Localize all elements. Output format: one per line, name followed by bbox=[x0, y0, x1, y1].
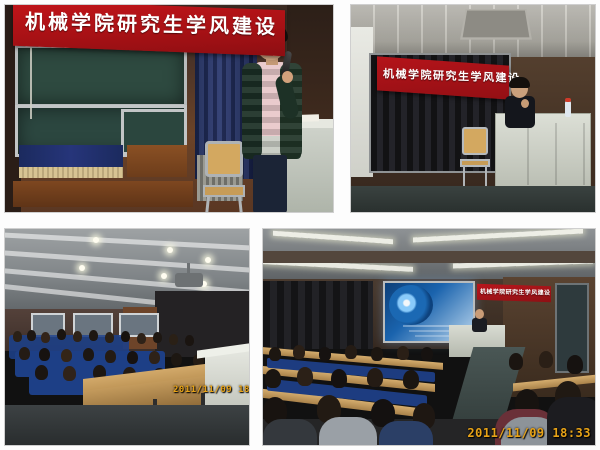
audience-head bbox=[35, 365, 48, 380]
audience-head bbox=[265, 369, 281, 388]
projector bbox=[175, 273, 203, 287]
wood-panel bbox=[127, 145, 187, 177]
blackboard-upper bbox=[15, 45, 187, 107]
speaker-hand bbox=[521, 99, 529, 108]
audience-head bbox=[19, 347, 30, 360]
audience-head bbox=[105, 350, 116, 363]
audience-head bbox=[319, 347, 331, 361]
chair-leg bbox=[485, 166, 487, 186]
audience-head bbox=[127, 351, 138, 364]
floor bbox=[5, 405, 249, 445]
audience-head bbox=[421, 347, 433, 361]
water-bottle bbox=[565, 101, 571, 117]
wood-wainscot bbox=[13, 181, 193, 207]
ceiling-downlight bbox=[161, 273, 167, 279]
ceiling-downlight bbox=[167, 247, 173, 253]
ceiling-downlight bbox=[79, 265, 85, 271]
chair-leg bbox=[205, 195, 210, 212]
audience-head bbox=[149, 351, 160, 364]
audience-shoulders bbox=[319, 417, 377, 445]
banner-text: 机械学院研究生学风建设 bbox=[480, 286, 550, 296]
photo-bottom-left[interactable]: 2011/11/09 18: bbox=[4, 228, 250, 446]
audience-head bbox=[331, 369, 347, 388]
chair-leg bbox=[463, 166, 465, 186]
photo-top-right[interactable]: 机械学院研究生学风建设 bbox=[350, 4, 596, 213]
chair-back bbox=[205, 141, 243, 177]
photo-collage: 机械学院研究生学风建设 机械学院研究生学风建设 bbox=[0, 0, 600, 450]
bottle-cap bbox=[565, 98, 571, 102]
audience-head bbox=[297, 367, 313, 386]
audience-head bbox=[105, 332, 114, 343]
slide-swirl-graphic bbox=[389, 285, 433, 325]
ceiling-downlight bbox=[205, 257, 211, 263]
audience-head bbox=[403, 370, 419, 389]
scene-room-wide: 机械学院研究生学风建设 bbox=[351, 5, 595, 212]
banner-text: 机械学院研究生学风建设 bbox=[25, 5, 278, 39]
audience-head bbox=[39, 348, 50, 361]
ceiling-downlight bbox=[93, 237, 99, 243]
audience-head bbox=[567, 355, 583, 374]
speaker-hand bbox=[282, 71, 293, 83]
wooden-chair bbox=[459, 127, 491, 187]
audience-head bbox=[171, 353, 182, 366]
camera-timestamp: 2011/11/09 18: bbox=[173, 385, 249, 395]
camera-timestamp: 2011/11/09 18:33 bbox=[467, 426, 591, 440]
speaker-head bbox=[475, 309, 484, 319]
audience-head bbox=[137, 333, 146, 344]
audience-shoulders bbox=[379, 421, 433, 445]
banner-text: 机械学院研究生学风建设 bbox=[383, 65, 521, 86]
red-banner: 机械学院研究生学风建设 bbox=[477, 284, 551, 303]
audience-head bbox=[83, 348, 94, 361]
audience-head bbox=[121, 331, 130, 342]
speaker-body bbox=[472, 318, 487, 332]
floor bbox=[351, 186, 595, 212]
audience-head bbox=[153, 332, 162, 343]
podium-panels bbox=[501, 123, 585, 185]
audience-head bbox=[169, 334, 178, 345]
audience-shoulders bbox=[263, 419, 317, 445]
audience-head bbox=[13, 331, 22, 342]
chair-back bbox=[462, 127, 488, 155]
dark-curtain bbox=[263, 281, 373, 349]
scene-audience-rear: 机械学院研究生学风建设 bbox=[263, 229, 595, 445]
audience-head bbox=[27, 330, 36, 341]
ceiling-beam bbox=[263, 251, 595, 263]
audience-head bbox=[345, 345, 357, 359]
speaker-body bbox=[505, 96, 535, 128]
slide-text-line bbox=[415, 335, 453, 337]
photo-top-left[interactable]: 机械学院研究生学风建设 bbox=[4, 4, 334, 213]
ceiling-vent bbox=[460, 9, 532, 40]
scene-audience-side: 2011/11/09 18: bbox=[5, 229, 249, 445]
side-podium bbox=[205, 351, 249, 411]
audience-head bbox=[63, 366, 76, 381]
audience-head bbox=[57, 329, 66, 340]
slide-text-line bbox=[409, 330, 453, 332]
photo-bottom-right[interactable]: 机械学院研究生学风建设 bbox=[262, 228, 596, 446]
curtain-fringe bbox=[19, 167, 123, 178]
speaker bbox=[471, 309, 487, 331]
audience-head bbox=[371, 347, 383, 361]
audience-head bbox=[41, 332, 50, 343]
audience-head bbox=[89, 330, 98, 341]
pointer-stick bbox=[30, 47, 32, 119]
audience-head bbox=[73, 331, 82, 342]
speaker bbox=[503, 79, 537, 125]
slide-text-line bbox=[403, 325, 453, 327]
audience-head bbox=[61, 349, 72, 362]
audience-head bbox=[293, 345, 305, 359]
speaker-hair bbox=[509, 77, 530, 88]
speaker-trousers bbox=[253, 155, 287, 212]
scene-lecture-front: 机械学院研究生学风建设 bbox=[5, 5, 333, 212]
audience-head bbox=[509, 353, 523, 370]
audience-head bbox=[185, 335, 194, 346]
audience-head bbox=[539, 351, 553, 368]
audience-head bbox=[269, 347, 281, 361]
audience-head bbox=[367, 368, 383, 387]
audience-head bbox=[397, 346, 409, 360]
